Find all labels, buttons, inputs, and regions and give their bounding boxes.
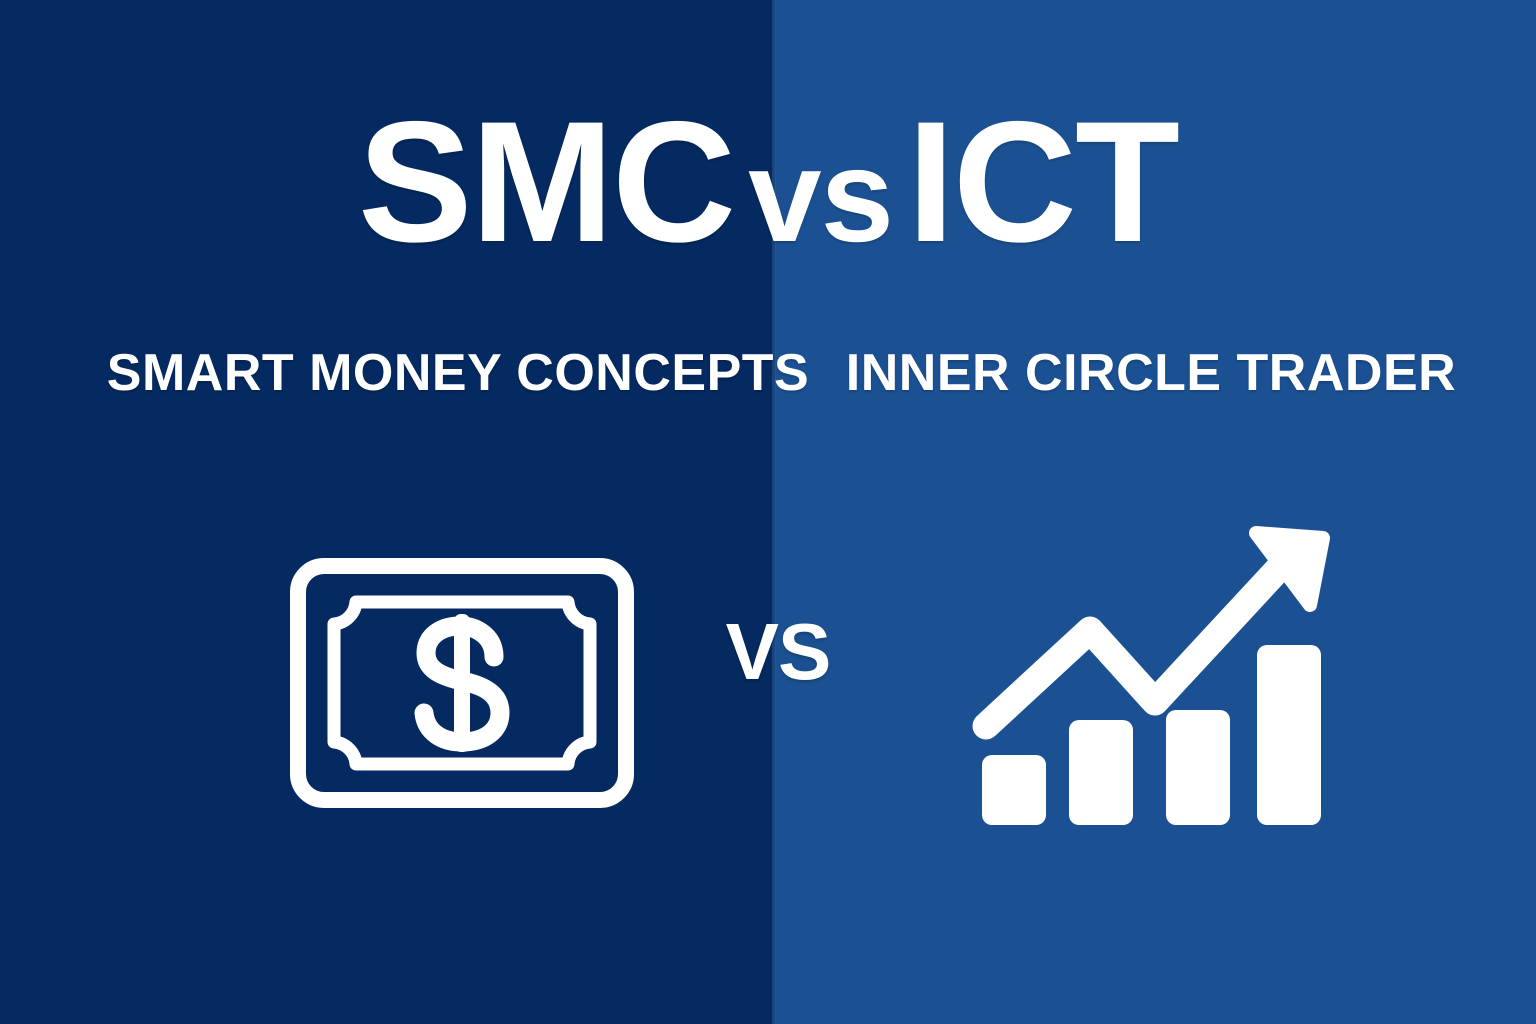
chart-bar-2	[1069, 720, 1133, 825]
chart-bar-3	[1166, 710, 1230, 825]
page-title: SMCvsICT	[0, 96, 1536, 268]
title-left-word: SMC	[358, 86, 734, 278]
dollar-sign-glyph	[424, 614, 500, 752]
title-versus-connector: vs	[734, 122, 907, 269]
chart-bar-4	[1257, 645, 1321, 825]
poster-canvas: SMCvsICT SMART MONEY CONCEPTS INNER CIRC…	[0, 0, 1536, 1024]
right-subtitle: INNER CIRCLE TRADER	[775, 342, 1527, 405]
center-versus-label: VS	[688, 612, 868, 692]
chart-bar-1	[982, 755, 1046, 825]
title-right-word: ICT	[907, 86, 1178, 278]
trend-line	[986, 565, 1282, 726]
left-subtitle: SMART MONEY CONCEPTS	[80, 342, 836, 405]
banknote-dollar-icon	[288, 556, 636, 810]
growth-bar-chart-arrow-icon	[960, 520, 1340, 840]
